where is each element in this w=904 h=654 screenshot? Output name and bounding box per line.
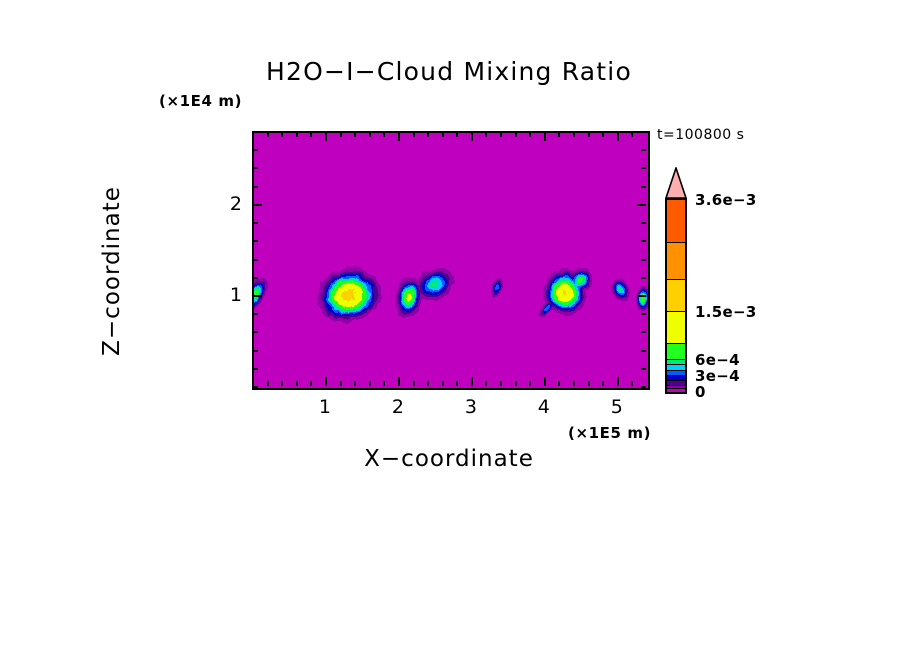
y-tick-minor [641,186,646,188]
y-tick-minor [641,259,646,261]
x-tick-minor [500,132,502,137]
x-tick-label: 3 [465,396,477,418]
y-tick-minor [253,368,258,370]
y-tick-minor [253,149,258,151]
x-tick-minor [340,132,342,137]
colorbar-tick-label: 1.5e−3 [695,303,757,321]
x-tick-minor [383,132,385,137]
x-tick-minor [413,381,415,386]
x-tick-minor [310,381,312,386]
x-tick-minor [427,381,429,386]
x-tick-major [398,377,400,386]
colorbar-band [667,389,685,392]
x-tick-minor [485,381,487,386]
y-tick-minor [641,386,646,388]
heatmap-canvas [254,133,648,388]
timestamp-annotation: t=100800 s [657,127,744,143]
x-tick-major [617,132,619,141]
x-tick-minor [267,132,269,137]
y-tick-minor [253,259,258,261]
y-tick-minor [253,222,258,224]
x-tick-minor [588,132,590,137]
y-tick-minor [641,167,646,169]
x-tick-major [325,377,327,386]
x-tick-minor [369,381,371,386]
x-tick-minor [529,381,531,386]
y-tick-minor [641,149,646,151]
x-tick-minor [558,132,560,137]
colorbar-bands [665,198,687,394]
x-tick-major [471,132,473,141]
colorbar-tick-label: 3.6e−3 [695,191,757,209]
x-tick-minor [296,381,298,386]
y-tick-minor [253,240,258,242]
x-tick-minor [281,381,283,386]
y-tick-minor [253,186,258,188]
colorbar-band [667,312,685,344]
x-tick-minor [558,381,560,386]
x-tick-minor [310,132,312,137]
y-tick-minor [253,350,258,352]
colorbar-band [667,344,685,360]
x-tick-minor [515,381,517,386]
x-tick-minor [281,132,283,137]
x-tick-minor [602,132,604,137]
x-tick-minor [588,381,590,386]
x-tick-minor [485,132,487,137]
x-tick-minor [340,381,342,386]
colorbar-extend-arrow-icon [663,167,689,199]
y-tick-minor [641,240,646,242]
colorbar-tick-label: 0 [695,383,706,401]
x-tick-minor [456,381,458,386]
x-tick-label: 1 [319,396,331,418]
x-tick-minor [456,132,458,137]
x-tick-minor [442,381,444,386]
y-tick-minor [641,368,646,370]
x-tick-minor [427,132,429,137]
x-tick-minor [354,132,356,137]
y-tick-label: 1 [216,284,242,306]
y-tick-major [253,204,262,206]
y-tick-minor [253,313,258,315]
x-tick-major [544,132,546,141]
y-tick-major [637,204,646,206]
y-axis-label: Z−coordinate [99,121,125,421]
x-tick-minor [442,132,444,137]
y-tick-minor [253,167,258,169]
x-tick-major [544,377,546,386]
y-tick-minor [641,222,646,224]
x-tick-minor [267,381,269,386]
y-axis-unit-label: (×1E4 m) [159,92,242,110]
x-tick-minor [631,132,633,137]
colorbar [663,167,689,395]
y-tick-label: 2 [216,193,242,215]
x-axis-label: X−coordinate [252,446,646,472]
x-tick-major [617,377,619,386]
x-tick-minor [296,132,298,137]
colorbar-band [667,280,685,312]
y-tick-minor [641,331,646,333]
x-tick-label: 2 [392,396,404,418]
x-tick-minor [515,132,517,137]
y-tick-minor [641,313,646,315]
x-tick-label: 4 [538,396,550,418]
x-tick-label: 5 [611,396,623,418]
x-tick-minor [354,381,356,386]
y-tick-minor [253,277,258,279]
x-tick-minor [383,381,385,386]
y-tick-minor [253,386,258,388]
x-tick-minor [369,132,371,137]
page-title: H2O−I−Cloud Mixing Ratio [252,57,646,86]
y-tick-major [637,295,646,297]
y-tick-minor [253,331,258,333]
y-tick-minor [641,277,646,279]
x-tick-major [471,377,473,386]
figure-canvas: H2O−I−Cloud Mixing Ratio (×1E4 m) t=1008… [0,0,904,654]
x-tick-minor [529,132,531,137]
x-axis-unit-label: (×1E5 m) [568,424,651,442]
x-tick-minor [573,381,575,386]
x-tick-major [398,132,400,141]
plot-area [252,131,650,390]
x-tick-minor [573,132,575,137]
x-tick-minor [252,132,254,137]
x-tick-minor [413,132,415,137]
x-tick-minor [500,381,502,386]
y-tick-major [253,295,262,297]
colorbar-band [667,200,685,243]
y-tick-minor [641,350,646,352]
colorbar-band [667,243,685,280]
x-tick-minor [631,381,633,386]
x-tick-minor [602,381,604,386]
x-tick-major [325,132,327,141]
